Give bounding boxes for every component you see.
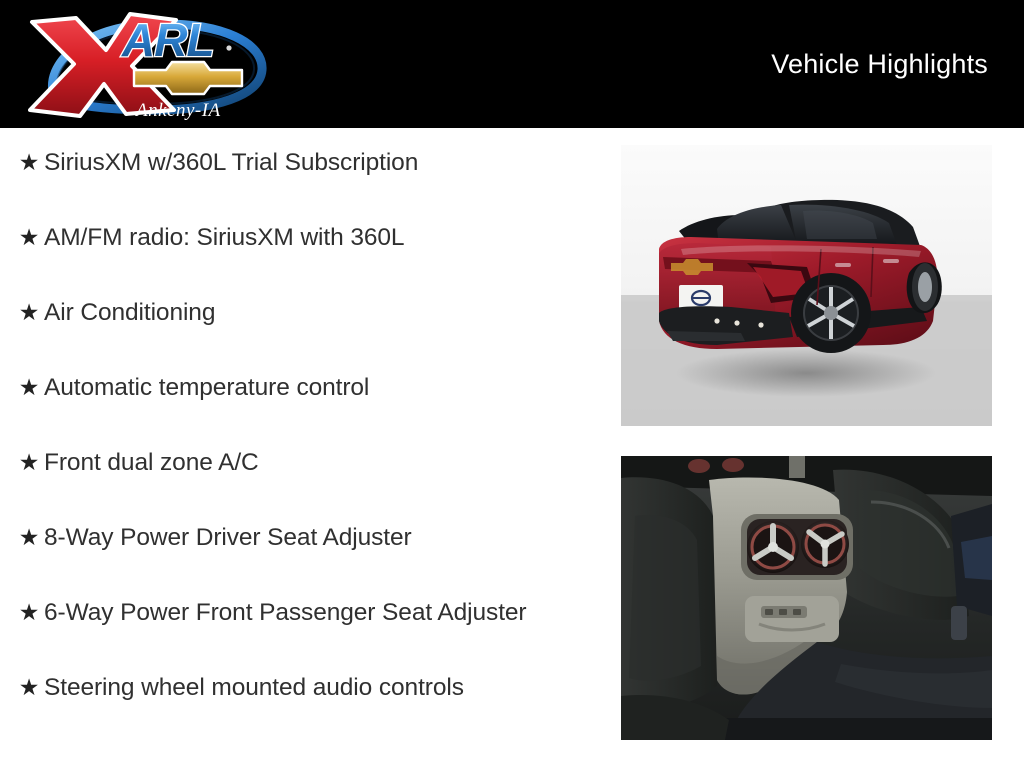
list-item-label: 8-Way Power Driver Seat Adjuster: [44, 517, 594, 555]
list-item: ★ AM/FM radio: SiriusXM with 360L: [0, 217, 600, 292]
karl-chevrolet-logo[interactable]: ARL Ankeny-IA: [14, 4, 286, 124]
vehicle-interior-photo[interactable]: [621, 456, 992, 740]
list-item-label: AM/FM radio: SiriusXM with 360L: [44, 217, 594, 255]
star-bullet-icon: ★: [14, 367, 44, 407]
chevrolet-blazer-ev: [659, 200, 942, 353]
list-item: ★ Steering wheel mounted audio controls: [0, 667, 600, 742]
star-bullet-icon: ★: [14, 592, 44, 632]
star-bullet-icon: ★: [14, 517, 44, 557]
star-bullet-icon: ★: [14, 667, 44, 707]
vehicle-exterior-photo[interactable]: [621, 145, 992, 426]
list-item: ★ 8-Way Power Driver Seat Adjuster: [0, 517, 600, 592]
list-item-label: Automatic temperature control: [44, 367, 594, 405]
star-bullet-icon: ★: [14, 442, 44, 482]
window-sliver: [961, 536, 992, 580]
left-air-vent: [747, 521, 799, 573]
star-bullet-icon: ★: [14, 292, 44, 332]
vehicle-highlights-list: ★ SiriusXM w/360L Trial Subscription ★ A…: [0, 128, 600, 768]
list-item-label: Air Conditioning: [44, 292, 594, 330]
svg-text:ARL: ARL: [121, 14, 214, 66]
right-air-vent: [801, 520, 849, 568]
seat-belt-buckle: [951, 606, 967, 640]
list-item-label: SiriusXM w/360L Trial Subscription: [44, 142, 594, 180]
page-title: Vehicle Highlights: [771, 49, 988, 80]
list-item-label: 6-Way Power Front Passenger Seat Adjuste…: [44, 592, 594, 630]
star-bullet-icon: ★: [14, 217, 44, 257]
svg-text:Ankeny-IA: Ankeny-IA: [134, 100, 221, 121]
slide-vehicle-highlights: ARL Ankeny-IA Vehicle Highlights ★ Siriu…: [0, 0, 1024, 768]
star-bullet-icon: ★: [14, 142, 44, 182]
logo-arl-wordmark: ARL: [121, 14, 232, 66]
list-item: ★ Front dual zone A/C: [0, 442, 600, 517]
list-item: ★ Automatic temperature control: [0, 367, 600, 442]
list-item: ★ Air Conditioning: [0, 292, 600, 367]
console-storage-panel: [745, 596, 839, 642]
logo-location-script: Ankeny-IA: [134, 100, 221, 121]
list-item-label: Front dual zone A/C: [44, 442, 594, 480]
vehicle-shadow: [676, 349, 936, 397]
upper-accent-light: [688, 459, 710, 473]
header-bar: ARL Ankeny-IA Vehicle Highlights: [0, 0, 1024, 128]
list-item-label: Steering wheel mounted audio controls: [44, 667, 594, 705]
list-item: ★ SiriusXM w/360L Trial Subscription: [0, 142, 600, 217]
list-item: ★ 6-Way Power Front Passenger Seat Adjus…: [0, 592, 600, 667]
